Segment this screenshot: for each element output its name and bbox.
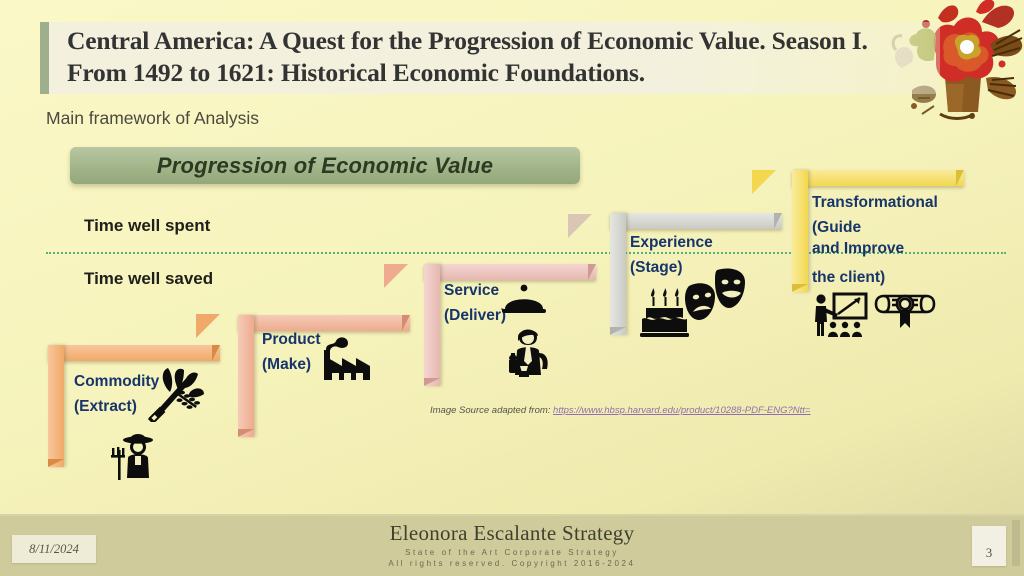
- product-label: Product (Make): [262, 327, 321, 377]
- label-time-well-spent: Time well spent: [84, 216, 210, 236]
- commodity-bar-horizontal: [48, 345, 220, 361]
- wheat-stalk-icon: [146, 368, 206, 422]
- footer-brand-tagline: State of the Art Corporate Strategy: [0, 548, 1024, 557]
- footer-brand-name: Eleonora Escalante Strategy: [0, 521, 1024, 546]
- factory-icon: [322, 336, 378, 382]
- slide-subtitle: Main framework of Analysis: [46, 108, 259, 129]
- waiter-icon: [505, 325, 555, 377]
- service-cap-right: [588, 264, 596, 280]
- service-bar-vertical: [424, 264, 440, 386]
- commodity-bar-vertical: [48, 345, 64, 467]
- transformational-bar-vertical: [792, 170, 808, 292]
- product-cap-bottom: [238, 429, 254, 437]
- footer-brand-rights: All rights reserved. Copyright 2016-2024: [0, 559, 1024, 568]
- slide-title-block: Central America: A Quest for the Progres…: [40, 22, 940, 94]
- product-bar-vertical: [238, 315, 254, 437]
- transformational-cap-right: [956, 170, 964, 186]
- cloche-tray-icon: [500, 283, 548, 317]
- transformational-cap-bottom: [792, 284, 808, 292]
- experience-arrow-icon: [752, 170, 776, 194]
- commodity-cap-bottom: [48, 459, 64, 467]
- image-source-note: Image Source adapted from: https://www.h…: [430, 405, 810, 416]
- page-number: 3: [972, 526, 1006, 566]
- footer-band-top-edge: [0, 514, 1024, 516]
- theatre-masks-icon: [685, 266, 747, 322]
- progression-banner: Progression of Economic Value: [70, 147, 580, 184]
- service-label: Service (Deliver): [444, 278, 506, 328]
- title-accent-bar: [40, 22, 49, 94]
- birthday-cake-icon: [638, 288, 690, 338]
- experience-bar-vertical: [610, 213, 626, 335]
- image-source-link[interactable]: https://www.hbsp.harvard.edu/product/102…: [553, 405, 810, 416]
- progression-banner-label: Progression of Economic Value: [157, 153, 493, 179]
- transformational-bar-horizontal: [792, 170, 964, 186]
- product-cap-right: [402, 315, 410, 331]
- diploma-icon: [874, 288, 936, 332]
- experience-bar-horizontal: [610, 213, 782, 229]
- footer-brand: Eleonora Escalante Strategy State of the…: [0, 521, 1024, 568]
- experience-cap-bottom: [610, 327, 626, 335]
- commodity-cap-right: [212, 345, 220, 361]
- farmer-icon: [108, 428, 160, 480]
- service-cap-bottom: [424, 378, 440, 386]
- page-title-line-1: Central America: A Quest for the Progres…: [67, 25, 926, 57]
- transformational-label: Transformational (Guide and Improve the …: [812, 190, 938, 290]
- service-arrow-icon: [568, 214, 592, 238]
- presenter-audience-icon: [812, 292, 868, 338]
- title-text-box: Central America: A Quest for the Progres…: [49, 22, 940, 94]
- image-source-prefix: Image Source adapted from:: [430, 405, 550, 416]
- slide-canvas: Central America: A Quest for the Progres…: [0, 0, 1024, 576]
- product-arrow-icon: [384, 264, 408, 288]
- commodity-arrow-icon: [196, 314, 220, 338]
- experience-cap-right: [774, 213, 782, 229]
- page-number-rail: [1012, 520, 1020, 566]
- label-time-well-saved: Time well saved: [84, 269, 213, 289]
- page-title-line-2: From 1492 to 1621: Historical Economic F…: [67, 57, 926, 89]
